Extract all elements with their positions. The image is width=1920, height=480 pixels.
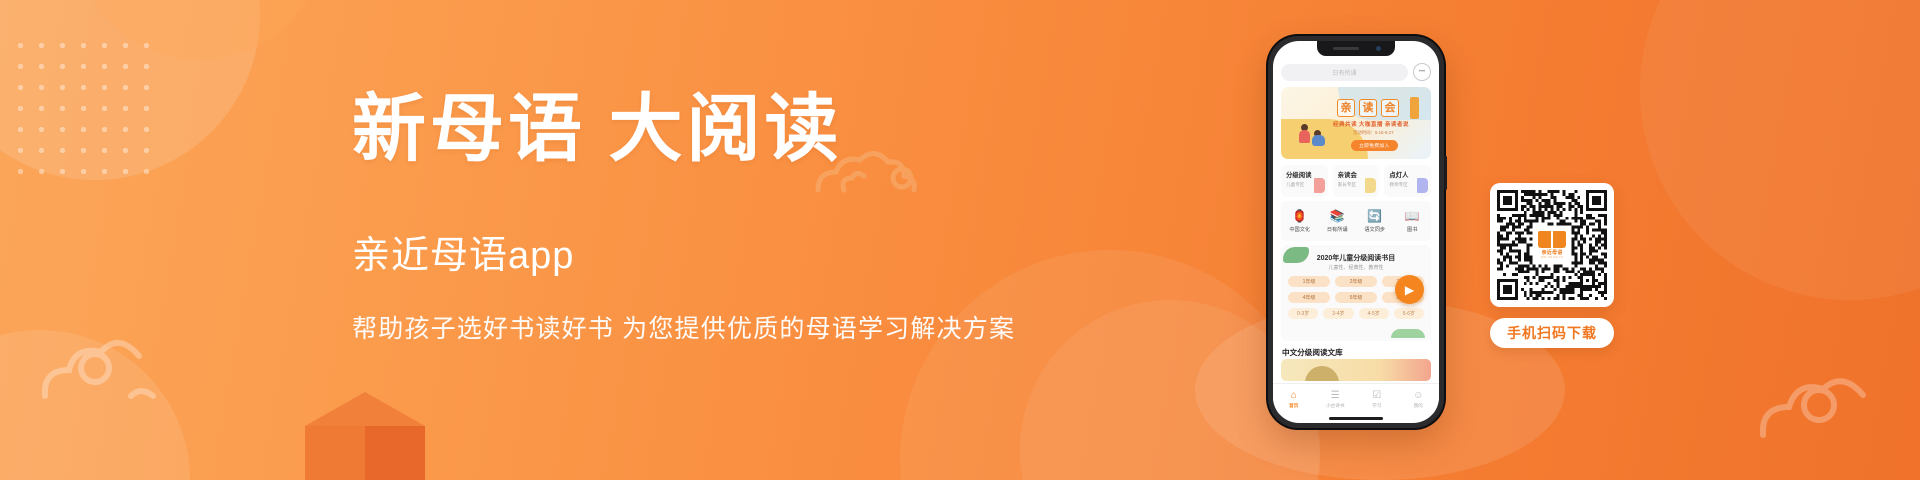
- quick-item-label: 日有所诵: [1319, 226, 1357, 233]
- tab-bar: ⌂ 首页 ☰ 小古诗书 ☑ 学习 ☺ 我的: [1273, 383, 1439, 414]
- age-tag[interactable]: 4-5岁: [1359, 308, 1389, 319]
- booklist-card[interactable]: 2020年儿童分级阅读书目 儿童性、经典性、教育性 1年级 2年级 3年级 4年…: [1281, 245, 1431, 341]
- search-placeholder: 日有所诵: [1332, 68, 1356, 77]
- grade-tag[interactable]: 1年级: [1288, 276, 1330, 287]
- hero-banner-card[interactable]: 亲 读 会 经典共读 大咖直播 亲读者说 活动时间：9.16-9.27 立即免费…: [1281, 87, 1431, 159]
- books-icon: 📚: [1319, 209, 1357, 223]
- decor-dot-grid: [10, 35, 160, 190]
- decor-leaf-icon-2: [1391, 329, 1425, 338]
- quick-item-label: 语文同步: [1356, 226, 1394, 233]
- lantern-icon: 🏮: [1281, 209, 1319, 223]
- ellipsis-icon[interactable]: •••: [1413, 63, 1431, 81]
- grade-tag[interactable]: 4年级: [1288, 292, 1330, 303]
- tab-mine[interactable]: ☺ 我的: [1398, 390, 1440, 409]
- quick-item-books[interactable]: 📖 图书: [1394, 209, 1432, 233]
- home-icon: ⌂: [1273, 390, 1315, 402]
- tab-booklist[interactable]: ☰ 小古诗书: [1315, 390, 1357, 409]
- age-tag-row: 0-3岁 3-4岁 4-5岁 5-6岁: [1288, 308, 1424, 319]
- hero-title-char-0: 亲: [1337, 99, 1355, 117]
- hero-date: 活动时间：9.16-9.27: [1353, 130, 1394, 136]
- decor-circle-top-left: [0, 0, 260, 180]
- qr-block: 亲近母语 QIN JIN MU YU 手机扫码下载: [1490, 183, 1614, 348]
- tab-label: 首页: [1273, 403, 1315, 409]
- qr-card: 亲近母语 QIN JIN MU YU: [1490, 183, 1614, 307]
- phone-screen: 日有所诵 ••• 亲 读 会 经典共读 大咖直播 亲读者说 活动时间：9.16: [1273, 41, 1439, 423]
- hero-title-char-1: 读: [1359, 99, 1377, 117]
- hero-child-body-1: [1299, 130, 1310, 143]
- phone-notch: [1317, 41, 1395, 56]
- search-input[interactable]: 日有所诵: [1281, 64, 1408, 81]
- quick-icon-row: 🏮 中国文化 📚 日有所诵 🔄 语文同步 📖 图书: [1281, 201, 1431, 241]
- booklist-title: 2020年儿童分级阅读书目: [1281, 253, 1431, 263]
- entry-card-graded-reading[interactable]: 分级阅读 儿童专区: [1281, 165, 1328, 197]
- phone-mockup: 日有所诵 ••• 亲 读 会 经典共读 大咖直播 亲读者说 活动时间：9.16: [1268, 36, 1444, 428]
- quick-item-label: 图书: [1394, 226, 1432, 233]
- age-tag[interactable]: 3-4岁: [1323, 308, 1353, 319]
- library-title: 中文分级阅读文库: [1282, 347, 1343, 358]
- entry-card-parent-club[interactable]: 亲读会 家长专区: [1333, 165, 1380, 197]
- quick-item-label: 中国文化: [1281, 226, 1319, 233]
- age-tag[interactable]: 5-6岁: [1394, 308, 1424, 319]
- qr-code: 亲近母语 QIN JIN MU YU: [1497, 190, 1607, 300]
- decor-circle-right: [1640, 0, 1920, 300]
- list-icon: ☰: [1315, 390, 1357, 402]
- user-icon: ☺: [1398, 390, 1440, 402]
- tab-label: 小古诗书: [1315, 403, 1357, 409]
- open-book-icon: [1538, 231, 1566, 248]
- decor-cloud-icon-2: [35, 300, 185, 420]
- book-icon: [1365, 178, 1376, 193]
- download-button[interactable]: 手机扫码下载: [1490, 318, 1614, 348]
- copy-block: 新母语 大阅读 亲近母语app 帮助孩子选好书读好书 为您提供优质的母语学习解决…: [352, 88, 1052, 345]
- age-tag[interactable]: 0-3岁: [1288, 308, 1318, 319]
- page-title: 新母语 大阅读: [352, 88, 1052, 172]
- search-row: 日有所诵 •••: [1281, 63, 1431, 81]
- entry-card-teacher[interactable]: 点灯人 教师专区: [1384, 165, 1431, 197]
- video-play-icon[interactable]: ▶: [1395, 275, 1424, 304]
- quick-item-chinese-culture[interactable]: 🏮 中国文化: [1281, 209, 1319, 233]
- tab-label: 学习: [1356, 403, 1398, 409]
- decor-cloud-icon-3: [1755, 335, 1905, 455]
- qr-center-logo: 亲近母语 QIN JIN MU YU: [1534, 229, 1570, 261]
- decor-circle-top-left-2: [75, 0, 325, 60]
- decor-circle-bottom-left: [0, 330, 190, 480]
- hero-badge: [1410, 97, 1419, 119]
- tab-label: 我的: [1398, 403, 1440, 409]
- decor-cube: [305, 392, 425, 480]
- grade-tag[interactable]: 2年级: [1335, 276, 1377, 287]
- quick-item-daily-recite[interactable]: 📚 日有所诵: [1319, 209, 1357, 233]
- home-indicator: [1329, 417, 1383, 420]
- hero-join-button[interactable]: 立即免费加入: [1351, 140, 1398, 151]
- clipboard-icon: ☑: [1356, 390, 1398, 402]
- earpiece-speaker: [1333, 47, 1359, 50]
- booklist-subtitle: 儿童性、经典性、教育性: [1281, 264, 1431, 271]
- hero-title: 亲 读 会: [1337, 99, 1399, 117]
- hero-child-body-2: [1312, 135, 1325, 146]
- quick-item-textbook-sync[interactable]: 🔄 语文同步: [1356, 209, 1394, 233]
- entry-card-row: 分级阅读 儿童专区 亲读会 家长专区 点灯人 教师专区: [1281, 165, 1431, 197]
- book-icon: [1417, 178, 1428, 193]
- promo-banner: 新母语 大阅读 亲近母语app 帮助孩子选好书读好书 为您提供优质的母语学习解决…: [0, 0, 1920, 480]
- tab-study[interactable]: ☑ 学习: [1356, 390, 1398, 409]
- front-camera: [1376, 46, 1381, 51]
- qr-logo-pinyin: QIN JIN MU YU: [1541, 256, 1563, 259]
- app-name: 亲近母语app: [352, 224, 1052, 279]
- page-description: 帮助孩子选好书读好书 为您提供优质的母语学习解决方案: [352, 309, 1052, 345]
- library-decor-arc: [1305, 366, 1339, 381]
- tab-home[interactable]: ⌂ 首页: [1273, 390, 1315, 409]
- phone-side-button: [1444, 156, 1447, 190]
- hero-title-char-2: 会: [1381, 99, 1399, 117]
- book-icon: [1314, 178, 1325, 193]
- book-icon: 📖: [1394, 209, 1432, 223]
- hero-subtitle: 经典共读 大咖直播 亲读者说: [1333, 120, 1409, 128]
- sync-icon: 🔄: [1356, 209, 1394, 223]
- library-card[interactable]: [1281, 359, 1431, 381]
- grade-tag[interactable]: 5年级: [1335, 292, 1377, 303]
- qr-logo-name: 亲近母语: [1542, 249, 1563, 256]
